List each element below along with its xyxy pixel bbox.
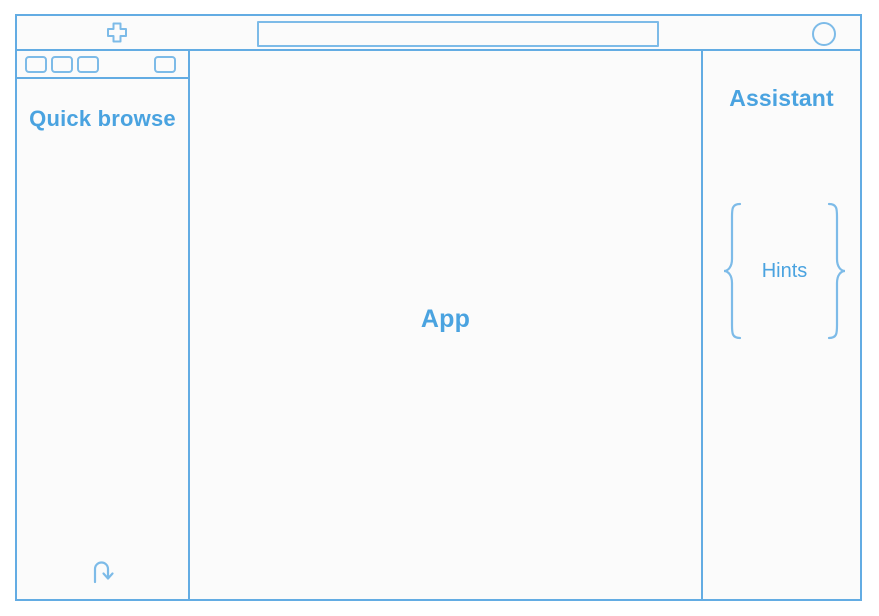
browser-window-frame: Quick browse App A [15,14,862,601]
sidebar-tool-2-button[interactable] [51,56,73,73]
main-app-label: App [421,305,470,334]
plus-icon [104,21,130,47]
top-bar [17,16,860,51]
hints-label: Hints [743,260,826,283]
avatar[interactable] [812,22,836,46]
main-app-pane: App [190,51,703,599]
new-tab-button[interactable] [99,19,135,49]
wireframe-canvas: Quick browse App A [0,0,879,616]
u-turn-arrow-icon [88,557,118,585]
hints-group: Hints [721,201,848,341]
right-brace-icon [826,201,848,341]
sidebar-title: Quick browse [17,105,188,133]
assistant-panel: Assistant Hints [703,51,860,599]
assistant-title: Assistant [703,85,860,112]
sidebar-footer-action[interactable] [17,557,188,585]
left-brace-icon [721,201,743,341]
sidebar-body: Quick browse [17,79,188,599]
sidebar-tool-3-button[interactable] [77,56,99,73]
sidebar-panel: Quick browse [17,51,190,599]
sidebar-tool-1-button[interactable] [25,56,47,73]
sidebar-toolbar [17,51,188,79]
address-bar-input[interactable] [257,21,659,47]
content-columns: Quick browse App A [17,51,860,599]
sidebar-tool-4-button[interactable] [154,56,176,73]
